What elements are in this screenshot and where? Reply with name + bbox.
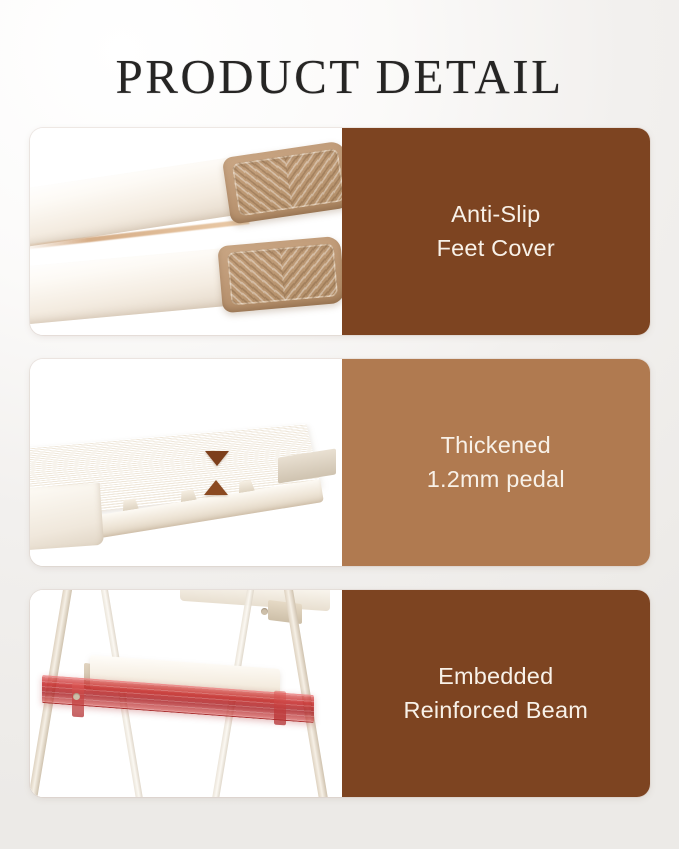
hinge-rivet-icon [261,608,268,615]
reinforced-beam-end-left [72,683,84,718]
chevron-tread-pattern-icon [231,148,342,216]
product-detail-card-list: Anti-Slip Feet Cover Thickened 1. [30,128,650,797]
arrow-up-icon [204,480,228,495]
arrow-down-icon [205,451,229,466]
chevron-tread-pattern-icon [226,243,337,305]
detail-card-thickened-pedal: Thickened 1.2mm pedal [30,359,650,566]
product-photo-thickened-pedal [30,359,342,566]
caption-line-2: 1.2mm pedal [427,463,565,496]
caption-panel-thickened-pedal: Thickened 1.2mm pedal [342,359,650,566]
product-photo-embedded-reinforced-beam [30,590,342,797]
caption-line-2: Reinforced Beam [403,694,588,727]
caption-text: Thickened 1.2mm pedal [427,429,565,496]
pedal-side-riser [30,483,104,553]
detail-card-embedded-reinforced-beam: Embedded Reinforced Beam [30,590,650,797]
page-title: PRODUCT DETAIL [0,0,679,101]
caption-text: Anti-Slip Feet Cover [437,198,555,265]
product-photo-anti-slip-feet-cover [30,128,342,335]
caption-text: Embedded Reinforced Beam [403,660,588,727]
caption-line-1: Embedded [403,660,588,693]
reinforced-beam-end-right [274,691,286,726]
ladder-frame-illustration [30,590,342,797]
hinge-rivet-icon [73,693,80,700]
caption-line-1: Thickened [427,429,565,462]
anti-slip-foot-cap-lower [217,236,342,313]
anti-slip-foot-cap-upper [221,140,342,224]
ladder-top-shelf [180,590,330,611]
caption-panel-embedded-reinforced-beam: Embedded Reinforced Beam [342,590,650,797]
ladder-legs-illustration [30,128,342,335]
caption-panel-anti-slip-feet-cover: Anti-Slip Feet Cover [342,128,650,335]
caption-line-1: Anti-Slip [437,198,555,231]
pedal-illustration [30,359,342,566]
caption-line-2: Feet Cover [437,232,555,265]
detail-card-anti-slip-feet-cover: Anti-Slip Feet Cover [30,128,650,335]
ladder-leg-lower [30,246,251,330]
